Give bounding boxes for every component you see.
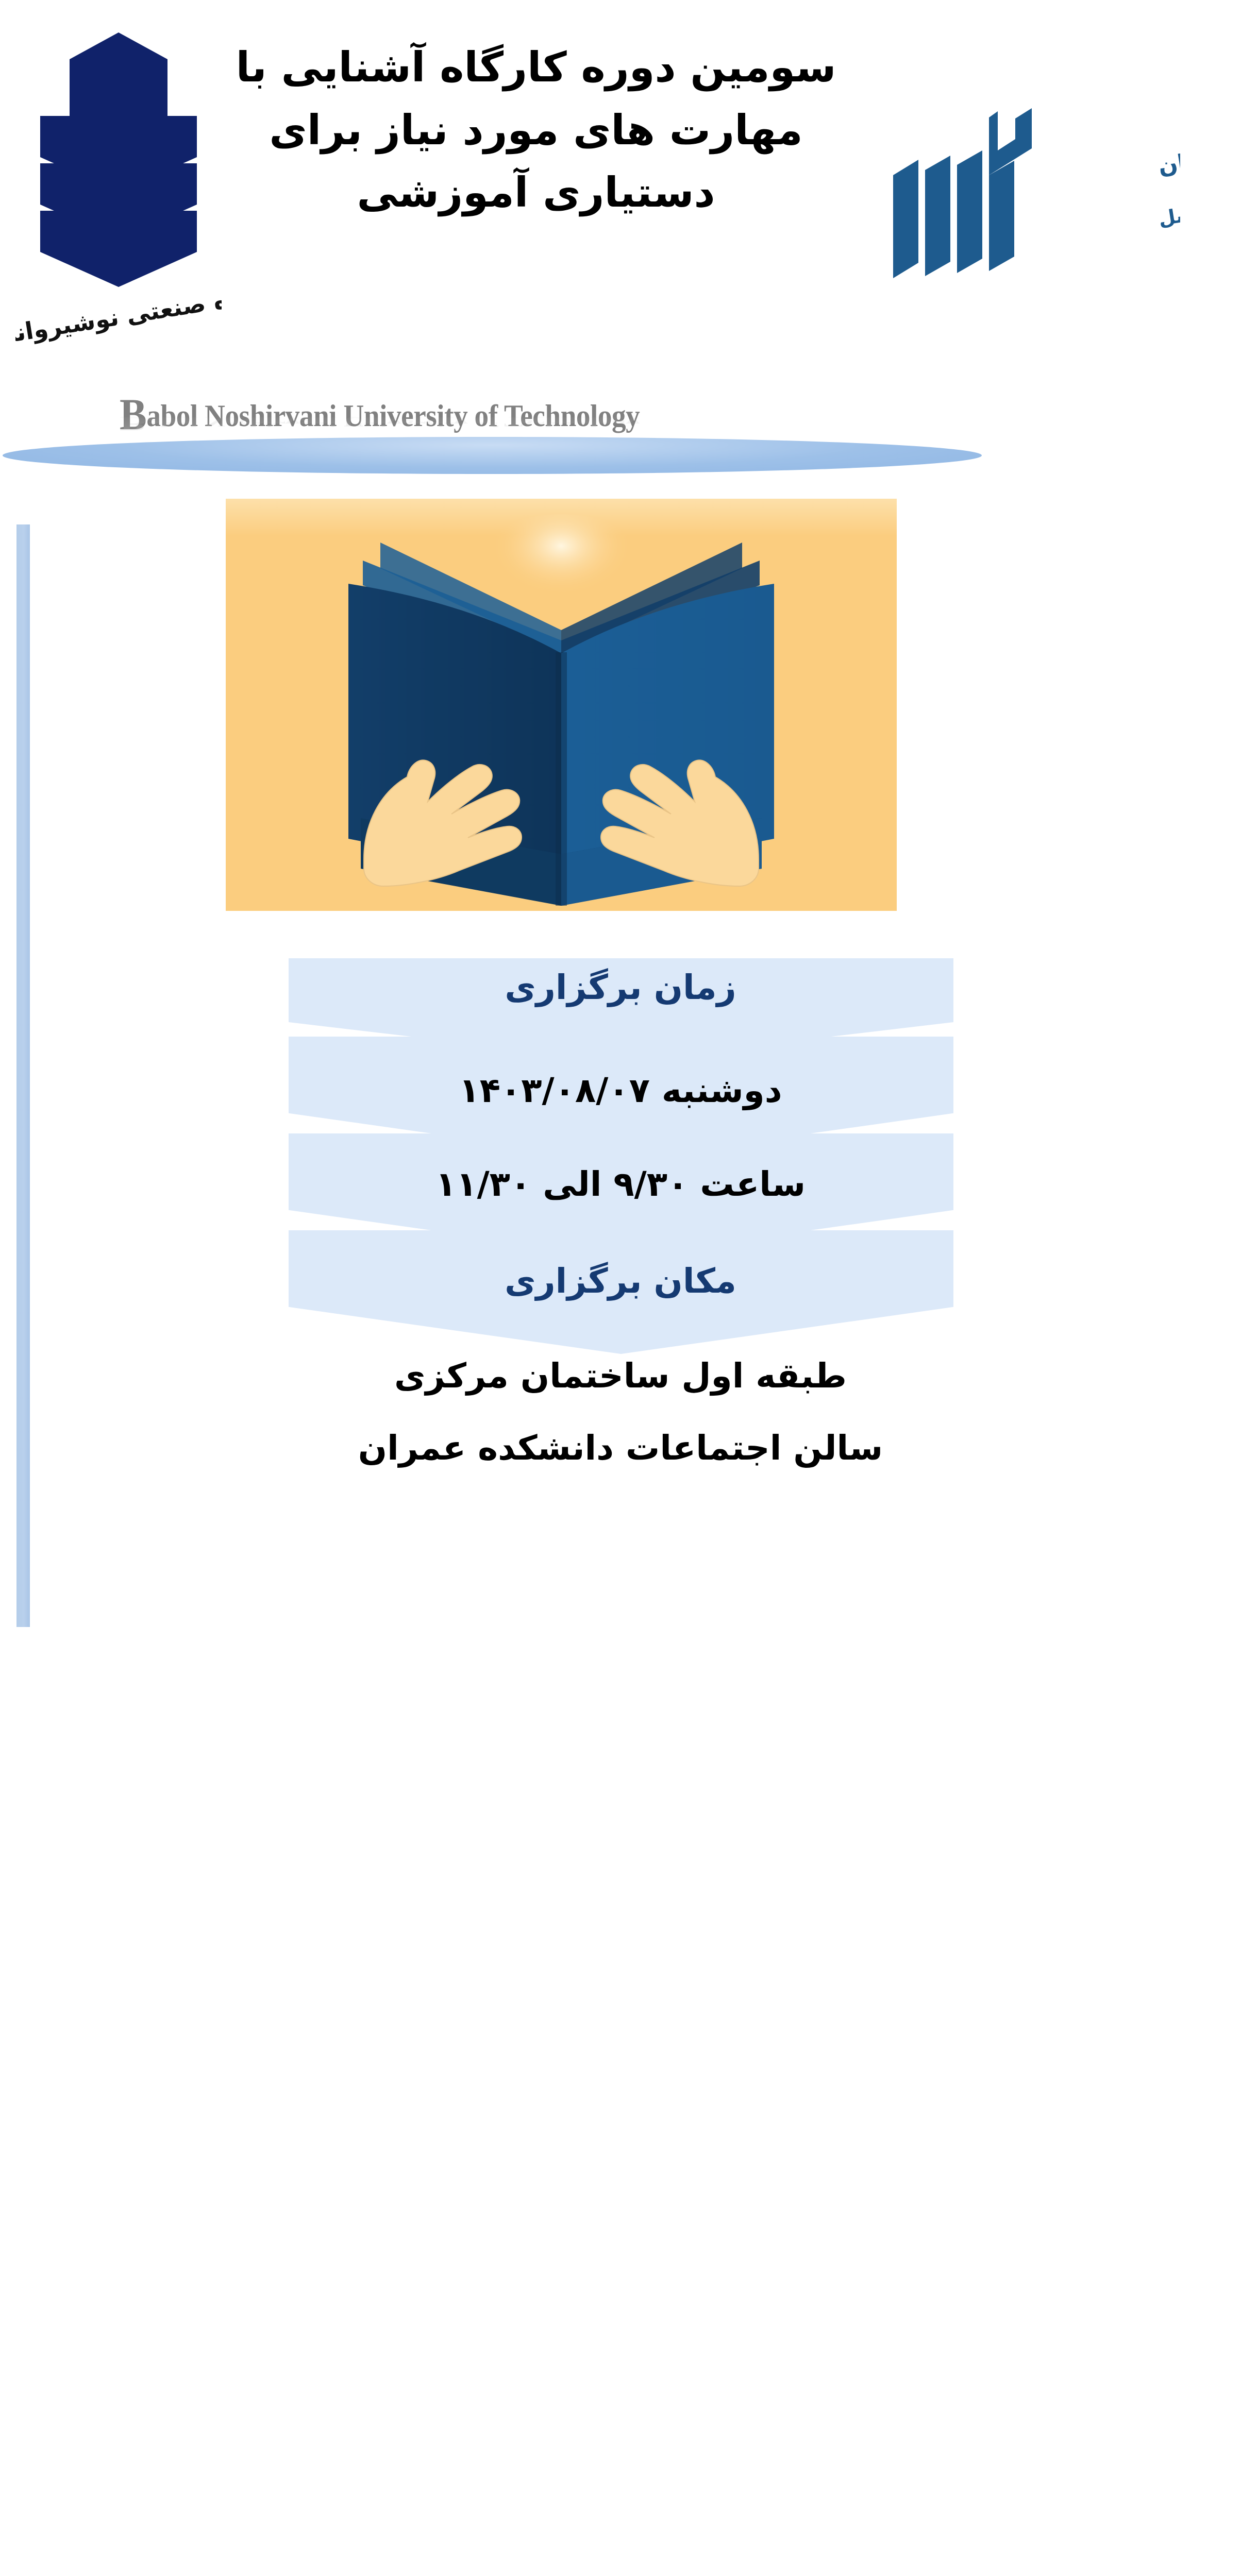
place-line-1: طبقه اول ساختمان مرکزی	[0, 1356, 1241, 1396]
poster-footer: 011_35501169 Tahaei.y@nit.ac.ir	[0, 1597, 1241, 1700]
association-logo: انجمن آموزش مهندسی ایران شاخه دانشگاه صن…	[871, 93, 1180, 309]
title-line-3: دستیاری آموزشی	[357, 161, 715, 224]
title-line-2: مهارت های مورد نیاز برای	[269, 99, 802, 162]
event-date: دوشنبه ۱۴۰۳/۰۸/۰۷	[0, 1071, 1241, 1110]
english-university-name: Babol Noshirvani University of Technolog…	[120, 397, 738, 443]
place-label: مکان برگزاری	[0, 1261, 1241, 1301]
event-info-section: زمان برگزاری دوشنبه ۱۴۰۳/۰۸/۰۷ ساعت ۹/۳۰…	[0, 927, 1241, 1566]
time-label: زمان برگزاری	[0, 968, 1241, 1007]
header-ellipse-divider	[3, 437, 982, 474]
place-line-2: سالن اجتماعات دانشکده عمران	[0, 1428, 1241, 1468]
event-hours: ساعت ۹/۳۰ الی ۱۱/۳۰	[0, 1164, 1241, 1204]
association-logo-line-1: انجمن آموزش مهندسی ایران	[1156, 101, 1180, 179]
page-title: سومین دوره کارگاه آشنایی با مهارت های مو…	[227, 36, 845, 345]
open-book-illustration	[226, 499, 897, 911]
title-line-1: سومین دوره کارگاه آشنایی با	[236, 36, 836, 99]
university-logo: دانشگاه صنعتی نوشیروانی بابل	[15, 28, 222, 353]
english-university-name-reflection: Babol Noshirvani University of Technolog…	[120, 414, 640, 434]
poster-header: دانشگاه صنعتی نوشیروانی بابل سومین دوره …	[0, 0, 1241, 443]
